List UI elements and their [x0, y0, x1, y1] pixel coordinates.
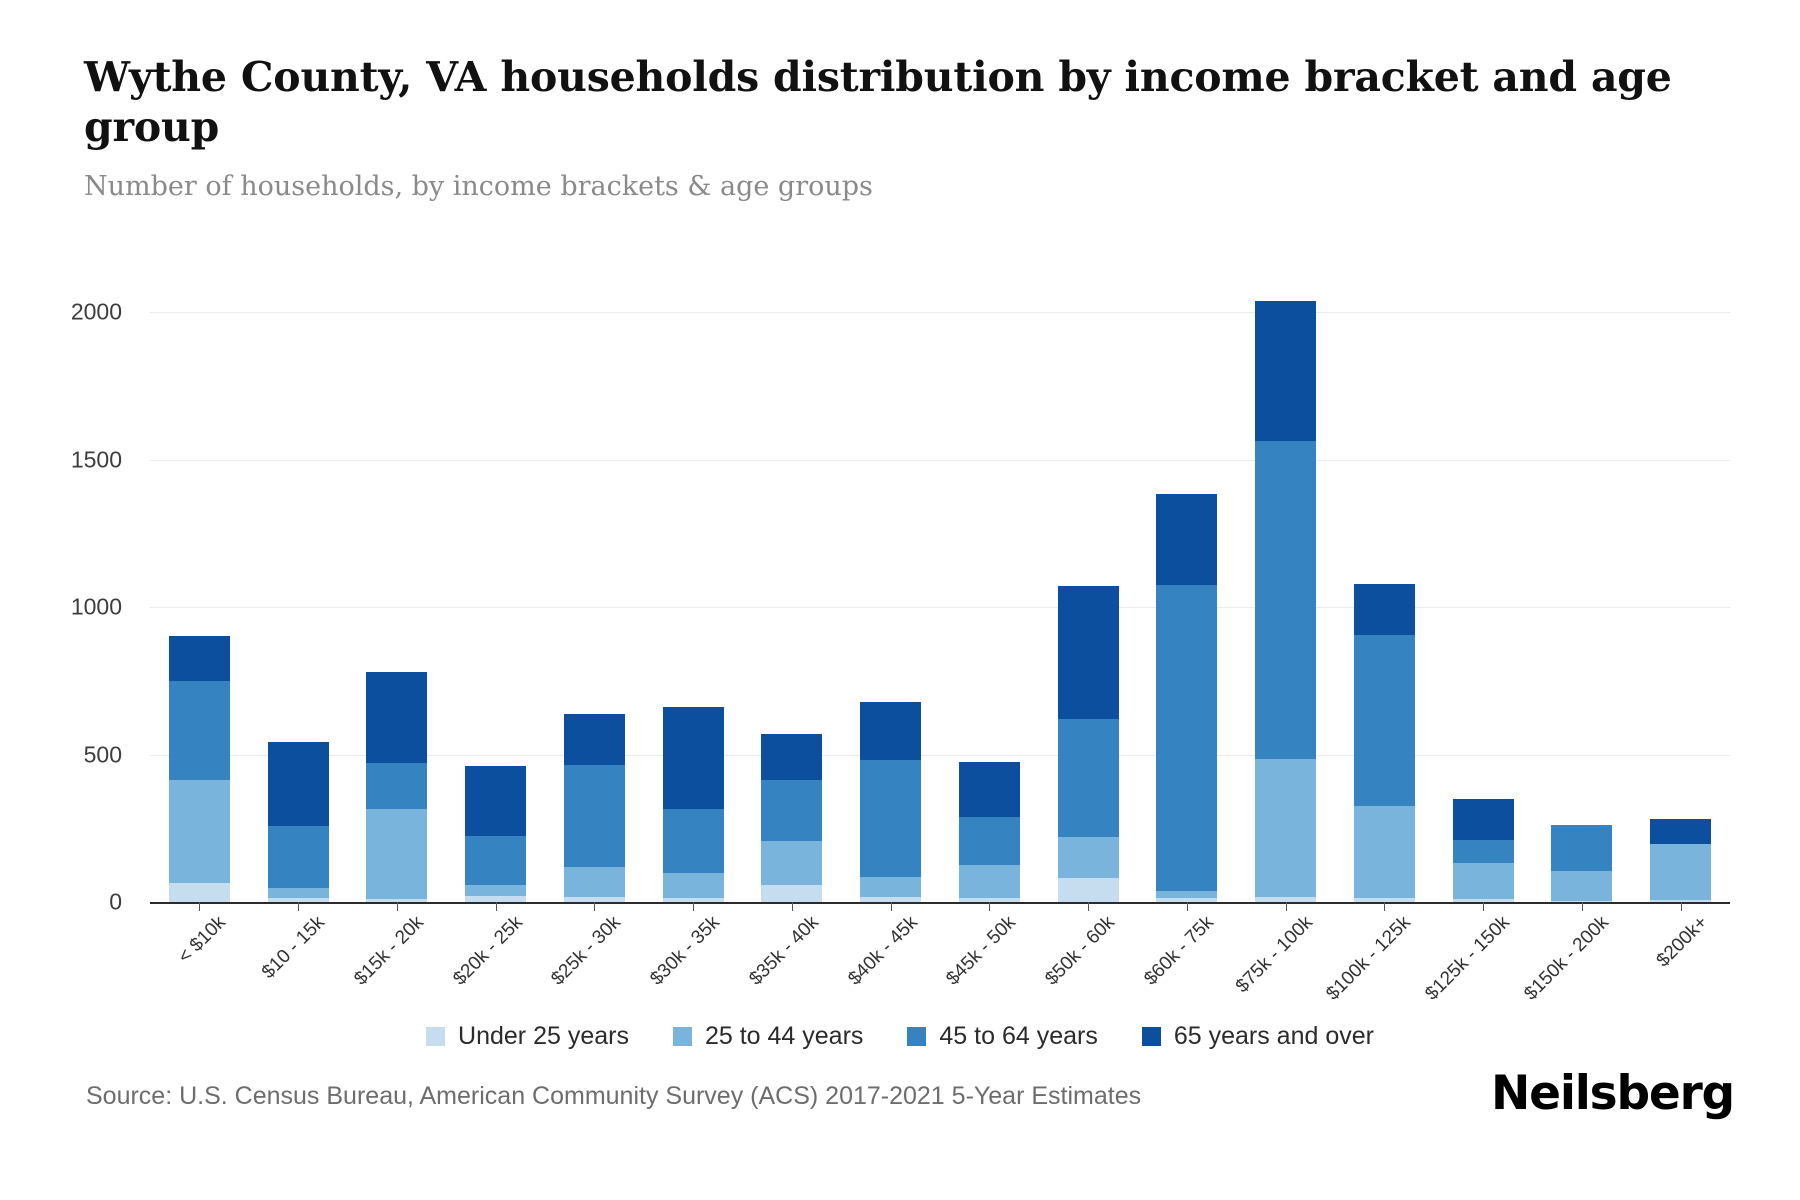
bar-stack[interactable]	[1156, 312, 1217, 902]
bar-segment[interactable]	[1058, 878, 1119, 902]
bar-stack[interactable]	[1551, 312, 1612, 902]
bar-segment[interactable]	[564, 714, 625, 766]
x-tick-label: $15k - 20k	[350, 912, 428, 990]
bar-segment[interactable]	[1156, 585, 1217, 891]
legend-label: 25 to 44 years	[705, 1022, 863, 1051]
bar-segment[interactable]	[268, 888, 329, 898]
x-tick-label: $25k - 30k	[548, 912, 626, 990]
brand-logo: Neilsberg	[1491, 1066, 1734, 1121]
bar-segment[interactable]	[1354, 584, 1415, 635]
bar-segment[interactable]	[1255, 759, 1316, 897]
bar-stack[interactable]	[1058, 312, 1119, 902]
plot-area: 0500100015002000 < $10k$10 - 15k$15k - 2…	[0, 0, 1800, 1200]
bar-segment[interactable]	[761, 885, 822, 902]
chart-page: Wythe County, VA households distribution…	[0, 0, 1800, 1200]
x-tick-mark	[199, 902, 200, 911]
bar-segment[interactable]	[663, 707, 724, 809]
bar-column	[465, 766, 526, 902]
x-tick-label: $45k - 50k	[943, 912, 1021, 990]
bar-segment[interactable]	[761, 841, 822, 885]
x-axis-ticks	[150, 902, 1730, 912]
bar-stack[interactable]	[959, 312, 1020, 902]
bar-column	[663, 707, 724, 902]
bar-segment[interactable]	[169, 681, 230, 781]
bar-segment[interactable]	[1551, 871, 1612, 901]
bar-segment[interactable]	[268, 826, 329, 889]
x-tick-label: $100k - 125k	[1323, 912, 1416, 1005]
y-tick-label: 500	[84, 741, 122, 768]
bar-segment[interactable]	[366, 809, 427, 899]
bar-segment[interactable]	[860, 702, 921, 760]
bar-column	[366, 672, 427, 902]
x-tick-mark	[989, 902, 990, 911]
bar-series-container	[150, 312, 1730, 902]
bar-segment[interactable]	[366, 672, 427, 763]
bar-stack[interactable]	[860, 312, 921, 902]
bar-segment[interactable]	[1058, 719, 1119, 836]
bar-column	[564, 714, 625, 902]
bar-segment[interactable]	[169, 780, 230, 882]
bar-stack[interactable]	[169, 312, 230, 902]
x-tick-label: $60k - 75k	[1140, 912, 1218, 990]
bar-segment[interactable]	[1551, 825, 1612, 870]
bar-stack[interactable]	[663, 312, 724, 902]
bar-stack[interactable]	[564, 312, 625, 902]
x-tick-label: $50k - 60k	[1041, 912, 1119, 990]
legend-label: Under 25 years	[458, 1022, 629, 1051]
bar-segment[interactable]	[465, 766, 526, 836]
x-tick-label: $20k - 25k	[449, 912, 527, 990]
bar-stack[interactable]	[1650, 312, 1711, 902]
source-note: Source: U.S. Census Bureau, American Com…	[86, 1082, 1141, 1111]
bar-segment[interactable]	[564, 765, 625, 867]
legend-swatch-icon	[907, 1027, 926, 1046]
bar-segment[interactable]	[1453, 863, 1514, 899]
bar-segment[interactable]	[1255, 441, 1316, 759]
x-tick-label: $30k - 35k	[646, 912, 724, 990]
x-tick-mark	[397, 902, 398, 911]
bar-segment[interactable]	[1650, 844, 1711, 900]
bar-column	[1551, 825, 1612, 902]
bar-segment[interactable]	[169, 883, 230, 902]
x-tick-mark	[496, 902, 497, 911]
bar-stack[interactable]	[1453, 312, 1514, 902]
y-tick-label: 1500	[71, 446, 122, 473]
x-tick-mark	[1187, 902, 1188, 911]
bar-segment[interactable]	[1058, 586, 1119, 719]
bar-segment[interactable]	[268, 742, 329, 826]
bar-segment[interactable]	[1453, 840, 1514, 863]
bar-segment[interactable]	[1255, 301, 1316, 442]
x-tick-mark	[594, 902, 595, 911]
bar-stack[interactable]	[761, 312, 822, 902]
x-tick-mark	[1582, 902, 1583, 911]
bar-segment[interactable]	[959, 762, 1020, 817]
x-tick-mark	[1286, 902, 1287, 911]
bar-column	[1453, 799, 1514, 902]
x-tick-mark	[1088, 902, 1089, 911]
legend-swatch-icon	[1142, 1027, 1161, 1046]
bar-stack[interactable]	[366, 312, 427, 902]
x-tick-label: $150k - 200k	[1520, 912, 1613, 1005]
y-axis-labels: 0500100015002000	[0, 312, 140, 902]
bar-segment[interactable]	[465, 885, 526, 896]
bar-segment[interactable]	[366, 763, 427, 809]
x-tick-label: $125k - 150k	[1421, 912, 1514, 1005]
bar-segment[interactable]	[1650, 819, 1711, 844]
bar-segment[interactable]	[1354, 806, 1415, 898]
bar-segment[interactable]	[959, 817, 1020, 864]
x-tick-mark	[298, 902, 299, 911]
bar-stack[interactable]	[268, 312, 329, 902]
bar-segment[interactable]	[1453, 799, 1514, 840]
bar-segment[interactable]	[761, 780, 822, 841]
x-tick-mark	[1384, 902, 1385, 911]
bar-column	[860, 702, 921, 902]
x-axis-labels: < $10k$10 - 15k$15k - 20k$20k - 25k$25k …	[150, 912, 1730, 1022]
x-tick-label: $35k - 40k	[745, 912, 823, 990]
bar-segment[interactable]	[860, 760, 921, 877]
bar-segment[interactable]	[663, 873, 724, 899]
legend-item[interactable]: 65 years and over	[1142, 1022, 1374, 1051]
y-tick-label: 0	[109, 889, 122, 916]
x-tick-mark	[1483, 902, 1484, 911]
bar-column	[1255, 301, 1316, 902]
x-tick-mark	[693, 902, 694, 911]
chart-legend: Under 25 years25 to 44 years45 to 64 yea…	[0, 1022, 1800, 1051]
y-tick-label: 2000	[71, 299, 122, 326]
legend-item[interactable]: 25 to 44 years	[673, 1022, 863, 1051]
bar-column	[268, 742, 329, 902]
bar-column	[1156, 494, 1217, 902]
bar-segment[interactable]	[1058, 837, 1119, 879]
bar-column	[169, 636, 230, 902]
x-tick-mark	[891, 902, 892, 911]
bar-segment[interactable]	[1156, 494, 1217, 585]
x-tick-label: $40k - 45k	[844, 912, 922, 990]
bar-segment[interactable]	[169, 636, 230, 681]
x-tick-mark	[1681, 902, 1682, 911]
bar-column	[1058, 586, 1119, 902]
bar-segment[interactable]	[663, 809, 724, 872]
bar-stack[interactable]	[1255, 312, 1316, 902]
x-tick-label: $75k - 100k	[1231, 912, 1317, 998]
legend-item[interactable]: 45 to 64 years	[907, 1022, 1097, 1051]
bar-segment[interactable]	[564, 867, 625, 897]
bar-segment[interactable]	[959, 865, 1020, 898]
bar-stack[interactable]	[1354, 312, 1415, 902]
bar-segment[interactable]	[1156, 891, 1217, 899]
bar-segment[interactable]	[1354, 635, 1415, 806]
bar-segment[interactable]	[761, 734, 822, 780]
x-tick-label: $10 - 15k	[258, 912, 330, 984]
legend-swatch-icon	[426, 1027, 445, 1046]
bar-segment[interactable]	[860, 877, 921, 897]
bar-stack[interactable]	[465, 312, 526, 902]
bar-column	[761, 734, 822, 902]
y-tick-label: 1000	[71, 594, 122, 621]
bar-column	[1354, 584, 1415, 902]
bar-column	[959, 762, 1020, 902]
x-tick-label: $200k+	[1652, 912, 1712, 972]
legend-label: 65 years and over	[1174, 1022, 1374, 1051]
legend-swatch-icon	[673, 1027, 692, 1046]
x-tick-label: < $10k	[175, 912, 231, 968]
x-tick-mark	[792, 902, 793, 911]
legend-label: 45 to 64 years	[939, 1022, 1097, 1051]
legend-item[interactable]: Under 25 years	[426, 1022, 629, 1051]
bar-column	[1650, 819, 1711, 902]
bar-segment[interactable]	[465, 836, 526, 885]
